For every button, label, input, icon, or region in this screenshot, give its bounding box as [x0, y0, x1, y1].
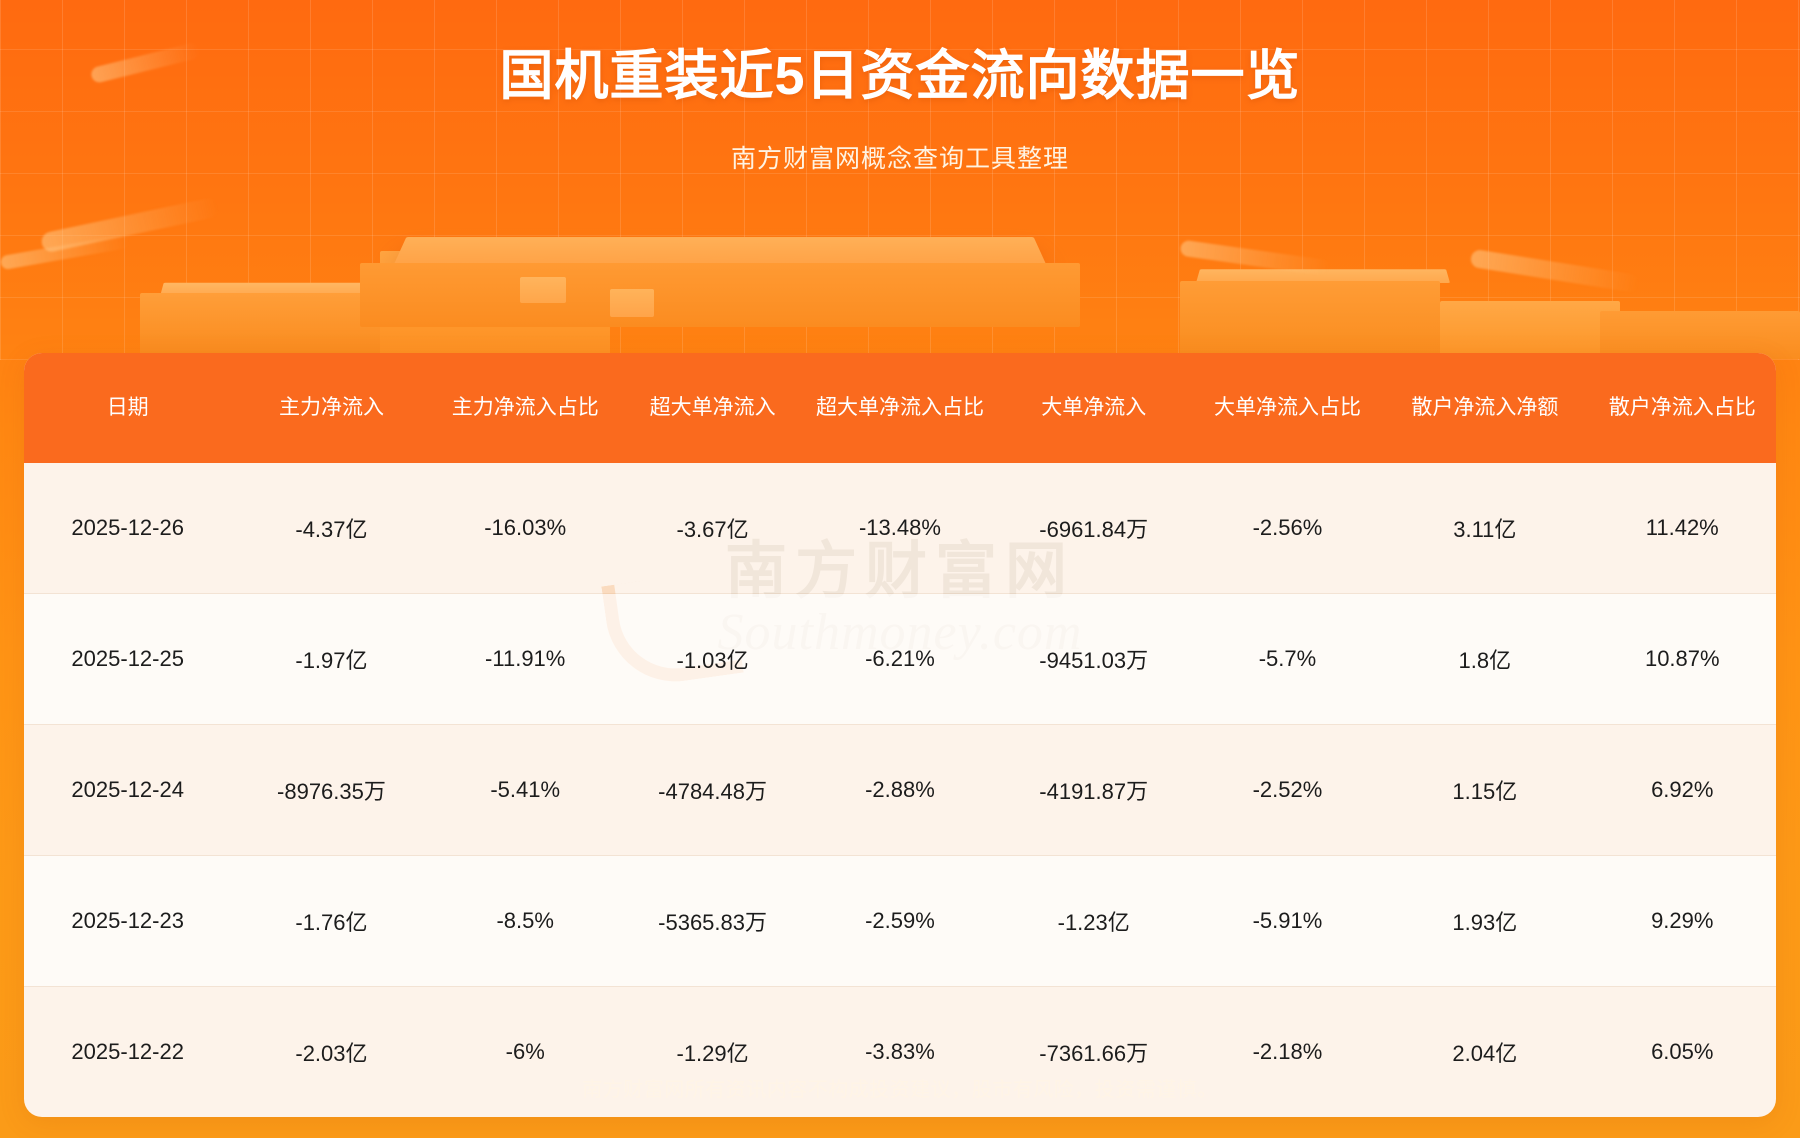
column-header-date: 日期: [24, 353, 231, 463]
fund-flow-table: 日期 主力净流入 主力净流入占比 超大单净流入 超大单净流入占比 大单净流入 大…: [24, 353, 1776, 1117]
table-row: 2025-12-25 -1.97亿 -11.91% -1.03亿 -6.21% …: [24, 594, 1776, 725]
decorative-podium-graphic: [0, 215, 1800, 375]
cell-super-large-net-inflow: -5365.83万: [619, 856, 806, 987]
cell-large-pct: -2.56%: [1194, 463, 1381, 594]
podium-block-left-top: [160, 283, 404, 296]
table-row: 2025-12-24 -8976.35万 -5.41% -4784.48万 -2…: [24, 725, 1776, 856]
column-header-super-large-net-inflow: 超大单净流入: [619, 353, 806, 463]
cell-main-net-inflow: -8976.35万: [231, 725, 431, 856]
cell-super-large-net-inflow: -3.67亿: [619, 463, 806, 594]
cell-main-net-inflow: -1.97亿: [231, 594, 431, 725]
page-subtitle: 南方财富网概念查询工具整理: [0, 139, 1800, 175]
title-area: 国机重装近5日资金流向数据一览 南方财富网概念查询工具整理: [0, 0, 1800, 175]
podium-block-small-a: [520, 277, 566, 303]
cell-date: 2025-12-24: [24, 725, 231, 856]
cell-retail-net-inflow: 3.11亿: [1381, 463, 1588, 594]
podium-block-left: [140, 293, 400, 359]
podium-block-left-mid: [380, 251, 610, 359]
page-title: 国机重装近5日资金流向数据一览: [0, 44, 1800, 109]
cell-retail-net-inflow: 1.15亿: [1381, 725, 1588, 856]
cell-large-net-inflow: -9451.03万: [994, 594, 1194, 725]
cell-large-pct: -5.91%: [1194, 856, 1381, 987]
cell-large-pct: -5.7%: [1194, 594, 1381, 725]
cell-retail-pct: 10.87%: [1589, 594, 1776, 725]
podium-block-small-b: [610, 289, 654, 317]
cell-retail-pct: 9.29%: [1589, 856, 1776, 987]
podium-block-far-right: [1600, 311, 1800, 359]
cell-super-large-net-inflow: -1.03亿: [619, 594, 806, 725]
cell-date: 2025-12-25: [24, 594, 231, 725]
cell-retail-pct: 6.92%: [1589, 725, 1776, 856]
column-header-large-net-inflow: 大单净流入: [994, 353, 1194, 463]
light-streak-decoration: [1180, 240, 1331, 277]
cell-super-large-pct: -2.88%: [806, 725, 993, 856]
data-table-card: 南方财富网 Southmoney.com 日期 主力净流入 主力净流入占比 超大…: [24, 353, 1776, 1117]
cell-large-net-inflow: -4191.87万: [994, 725, 1194, 856]
column-header-main-net-inflow-pct: 主力净流入占比: [432, 353, 619, 463]
cell-retail-net-inflow: 1.93亿: [1381, 856, 1588, 987]
table-row: 2025-12-26 -4.37亿 -16.03% -3.67亿 -13.48%…: [24, 463, 1776, 594]
cell-main-net-inflow-pct: -11.91%: [432, 594, 619, 725]
column-header-main-net-inflow: 主力净流入: [231, 353, 431, 463]
cell-large-pct: -2.52%: [1194, 725, 1381, 856]
cell-large-net-inflow: -1.23亿: [994, 856, 1194, 987]
poster-container: 国机重装近5日资金流向数据一览 南方财富网概念查询工具整理 南方财富网 Sout…: [0, 0, 1800, 1138]
cell-retail-net-inflow: 1.8亿: [1381, 594, 1588, 725]
cell-super-large-net-inflow: -4784.48万: [619, 725, 806, 856]
cell-super-large-pct: -2.59%: [806, 856, 993, 987]
cell-main-net-inflow-pct: -8.5%: [432, 856, 619, 987]
cell-date: 2025-12-26: [24, 463, 231, 594]
cell-main-net-inflow: -4.37亿: [231, 463, 431, 594]
disclaimer-text: 南方财富网所有资讯内容不构成投资建议，股市有风险，投资需谨慎。: [0, 1073, 1800, 1102]
table-header-row: 日期 主力净流入 主力净流入占比 超大单净流入 超大单净流入占比 大单净流入 大…: [24, 353, 1776, 463]
podium-block-right-mid: [1440, 301, 1620, 359]
cell-super-large-pct: -13.48%: [806, 463, 993, 594]
podium-block-center-face: [360, 263, 1080, 327]
column-header-retail-net-inflow: 散户净流入净额: [1381, 353, 1588, 463]
cell-date: 2025-12-23: [24, 856, 231, 987]
column-header-retail-pct: 散户净流入占比: [1589, 353, 1776, 463]
cell-super-large-pct: -6.21%: [806, 594, 993, 725]
table-row: 2025-12-23 -1.76亿 -8.5% -5365.83万 -2.59%…: [24, 856, 1776, 987]
cell-main-net-inflow-pct: -5.41%: [432, 725, 619, 856]
podium-block-center-top: [393, 237, 1046, 265]
column-header-super-large-pct: 超大单净流入占比: [806, 353, 993, 463]
light-streak-decoration: [1470, 249, 1641, 293]
cell-main-net-inflow: -1.76亿: [231, 856, 431, 987]
column-header-large-pct: 大单净流入占比: [1194, 353, 1381, 463]
table-body: 2025-12-26 -4.37亿 -16.03% -3.67亿 -13.48%…: [24, 463, 1776, 1117]
cell-retail-pct: 11.42%: [1589, 463, 1776, 594]
cell-large-net-inflow: -6961.84万: [994, 463, 1194, 594]
table-header: 日期 主力净流入 主力净流入占比 超大单净流入 超大单净流入占比 大单净流入 大…: [24, 353, 1776, 463]
podium-block-right: [1180, 281, 1440, 359]
cell-main-net-inflow-pct: -16.03%: [432, 463, 619, 594]
